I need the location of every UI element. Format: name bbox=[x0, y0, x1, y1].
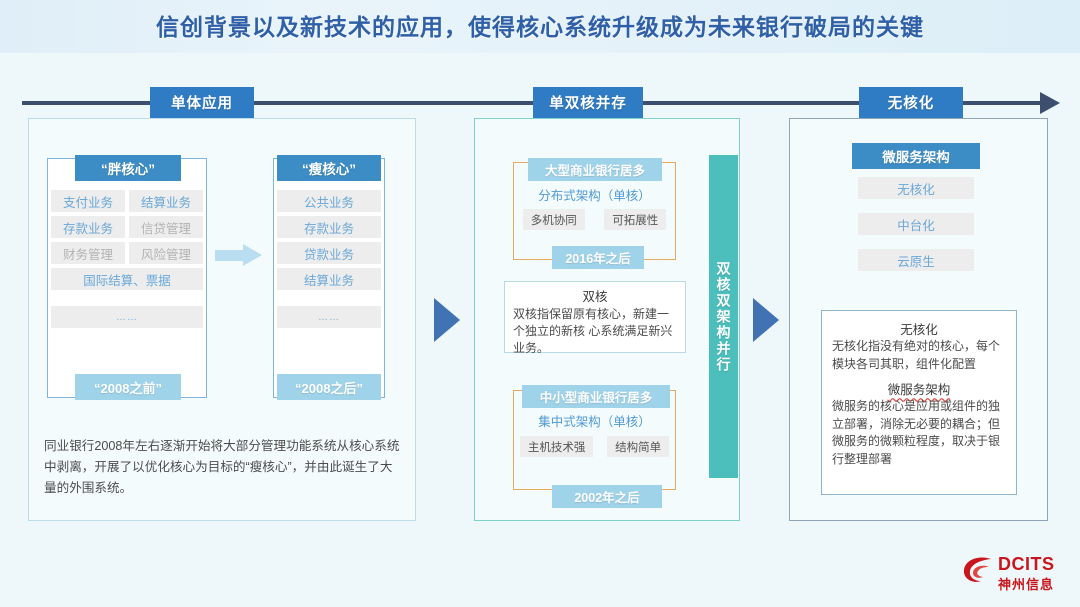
microservice-header: 微服务架构 bbox=[852, 143, 980, 169]
list-item: 贷款业务 bbox=[277, 242, 381, 264]
coreless-card-title-2: 微服务架构 bbox=[832, 379, 1006, 398]
list-item: 风险管理 bbox=[129, 242, 203, 264]
list-item-ellipsis: …… bbox=[51, 306, 203, 328]
fat-core-cells: 支付业务 结算业务 存款业务 信贷管理 财务管理 风险管理 国际结算、票据 …… bbox=[51, 190, 203, 328]
list-item: 国际结算、票据 bbox=[51, 268, 203, 290]
small-bank-header: 中小型商业银行居多 bbox=[522, 385, 670, 408]
list-item: 存款业务 bbox=[277, 216, 381, 238]
coreless-card-body-2: 微服务的核心是应用或组件的独立部署，消除无必要的耦合；但微服务的微颗粒程度，取决… bbox=[832, 398, 1006, 468]
dual-core-parallel-label: 双核双架构并行 bbox=[714, 261, 734, 373]
list-item: 无核化 bbox=[858, 177, 974, 199]
large-bank-header: 大型商业银行居多 bbox=[528, 158, 662, 181]
timeline-arrow-icon bbox=[1040, 92, 1060, 114]
list-item-ellipsis: …… bbox=[277, 306, 381, 328]
tag: 结构简单 bbox=[607, 436, 669, 457]
small-bank-footer: 2002年之后 bbox=[552, 485, 662, 508]
large-bank-tags: 多机协同 可拓展性 bbox=[513, 209, 676, 230]
coreless-card-body-1: 无核化指没有绝对的核心，每个模块各司其职，组件化配置 bbox=[832, 338, 1006, 373]
small-bank-tags: 主机技术强 结构简单 bbox=[513, 436, 676, 457]
fat-core-footer: “2008之前” bbox=[75, 374, 181, 400]
microservice-cells: 无核化 中台化 云原生 bbox=[858, 177, 974, 285]
list-item: 信贷管理 bbox=[129, 216, 203, 238]
fat-core-header: “胖核心” bbox=[75, 155, 181, 181]
dcits-logo-en: DCITS bbox=[998, 554, 1055, 575]
dcits-mark-icon bbox=[962, 555, 994, 585]
coreless-card: 无核化 无核化指没有绝对的核心，每个模块各司其职，组件化配置 微服务架构 微服务… bbox=[821, 310, 1017, 495]
coreless-card-title-1: 无核化 bbox=[832, 319, 1006, 338]
tag: 主机技术强 bbox=[520, 436, 594, 457]
panel-monolithic-note: 同业银行2008年左右逐渐开始将大部分管理功能系统从核心系统中剥离，开展了以优化… bbox=[36, 432, 410, 514]
dcits-logo-cn: 神州信息 bbox=[998, 574, 1054, 593]
large-bank-subtitle: 分布式架构（单核） bbox=[513, 185, 676, 204]
evolve-arrow-icon bbox=[215, 244, 263, 266]
tag: 多机协同 bbox=[523, 209, 585, 230]
list-item: 结算业务 bbox=[277, 268, 381, 290]
thin-core-footer: “2008之后” bbox=[277, 374, 381, 400]
dual-core-card: 双核 双核指保留原有核心，新建一个独立的新核 心系统满足新兴业务。 bbox=[504, 281, 686, 353]
arrow-right-icon-1 bbox=[434, 298, 460, 342]
timeline-phase-2[interactable]: 单双核并存 bbox=[533, 87, 643, 118]
dual-core-parallel-bar: 双核双架构并行 bbox=[709, 155, 738, 478]
timeline: 单体应用 单双核并存 无核化 bbox=[0, 88, 1080, 118]
tag: 可拓展性 bbox=[604, 209, 666, 230]
arrow-right-icon-2 bbox=[753, 298, 779, 342]
list-item: 中台化 bbox=[858, 213, 974, 235]
page-title: 信创背景以及新技术的应用，使得核心系统升级成为未来银行破局的关键 bbox=[0, 8, 1080, 42]
large-bank-footer: 2016年之后 bbox=[552, 246, 644, 269]
timeline-phase-3[interactable]: 无核化 bbox=[859, 87, 963, 118]
thin-core-cells: 公共业务 存款业务 贷款业务 结算业务 …… bbox=[277, 190, 381, 328]
dcits-logo: DCITS 神州信息 bbox=[962, 552, 1068, 594]
list-item: 财务管理 bbox=[51, 242, 125, 264]
list-spacer bbox=[51, 294, 203, 302]
list-spacer bbox=[277, 294, 381, 302]
timeline-phase-1[interactable]: 单体应用 bbox=[150, 87, 254, 118]
list-item: 存款业务 bbox=[51, 216, 125, 238]
list-item: 云原生 bbox=[858, 249, 974, 271]
list-item: 公共业务 bbox=[277, 190, 381, 212]
dual-core-card-title: 双核 bbox=[513, 286, 677, 305]
dual-core-card-body: 双核指保留原有核心，新建一个独立的新核 心系统满足新兴业务。 bbox=[513, 306, 677, 357]
thin-core-header: “瘦核心” bbox=[277, 155, 381, 181]
list-item: 支付业务 bbox=[51, 190, 125, 212]
list-item: 结算业务 bbox=[129, 190, 203, 212]
small-bank-subtitle: 集中式架构（单核） bbox=[513, 411, 676, 430]
